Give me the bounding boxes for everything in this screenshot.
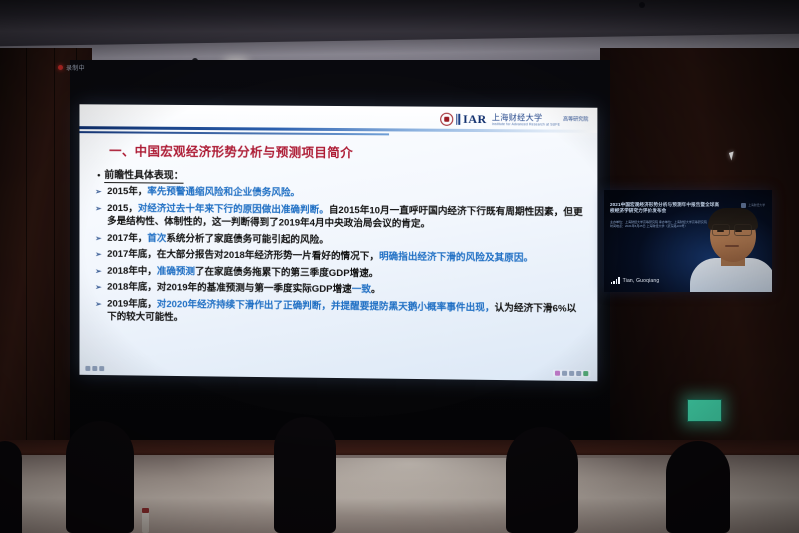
audience-head xyxy=(66,421,134,533)
speaker-video-feed xyxy=(690,212,772,292)
bullet-text-tail: 了在家庭债务拖累下的第三季度GDP增速。 xyxy=(195,266,378,279)
conference-room-photo: 录制中 IAR 上海财经大学 Institute for Advanced Re… xyxy=(0,0,799,533)
exit-sign xyxy=(687,399,722,422)
bullet-text-highlight: 准确预测 xyxy=(157,266,195,277)
bullet-text-plain: 2017年底，在大部分报告对2018年经济形势一片看好的情况下， xyxy=(107,249,379,263)
pen-tool-icon[interactable] xyxy=(555,371,560,376)
slide-bullet-item: 2015，对经济过去十年来下行的原因做出准确判断。自2015年10月一直呼吁国内… xyxy=(95,201,585,232)
lead-text: 前瞻性具体表现： xyxy=(104,170,183,184)
slide-header: IAR 上海财经大学 Institute for Advanced Resear… xyxy=(79,104,597,138)
slide-title: 一、中国宏观经济形势分析与预测项目简介 xyxy=(95,140,585,163)
footer-icon xyxy=(85,366,90,371)
bullet-text-highlight: 首次 xyxy=(147,233,166,244)
audience-head xyxy=(0,441,22,533)
slide-footer-left xyxy=(85,366,104,371)
presenter-toolbar[interactable] xyxy=(553,370,590,377)
slide-bullet-item: 2015年，率先预警通缩风险和企业债务风险。 xyxy=(95,185,585,203)
record-dot-icon xyxy=(58,65,63,70)
slide-menu-icon[interactable] xyxy=(576,371,581,376)
bullet-text-highlight: 对2020年经济持续下滑作出了正确判断，并提醒要提防黑天鹅小概率事件出现， xyxy=(157,299,495,314)
slide-bullet-list: 2015年，率先预警通缩风险和企业债务风险。2015，对经济过去十年来下行的原因… xyxy=(95,185,585,329)
bullet-text-plain: 2018年底，对2019年的基准预测与第一季度实际GDP增速 xyxy=(107,282,352,296)
recording-label: 录制中 xyxy=(66,63,85,72)
slide-bullet-item: 2017年，首次系统分析了家庭债务可能引起的风险。 xyxy=(95,231,585,249)
bullet-text-plain: 2018年中， xyxy=(107,265,157,276)
lead-bullet-icon: • xyxy=(97,170,100,180)
bullet-text-tail: 系统分析了家庭债务可能引起的风险。 xyxy=(166,233,328,246)
slide-bullet-item: 2019年底，对2020年经济持续下滑作出了正确判断，并提醒要提防黑天鹅小概率事… xyxy=(95,297,585,329)
bullet-text-highlight: 一致 xyxy=(352,284,371,295)
event-logo-text: 上海财经大学 xyxy=(748,204,765,207)
bullet-text-plain: 2015， xyxy=(107,202,138,213)
ceiling-sensor xyxy=(639,2,645,8)
signal-bars-icon xyxy=(611,277,620,284)
bullet-text-highlight: 对经济过去十年来下行的原因做出准确判断。 xyxy=(138,203,329,216)
water-bottle-cap xyxy=(142,508,149,513)
participant-name-badge: Tian, Guoqiang xyxy=(611,277,659,284)
logo-cn-sub: 高等研究院 xyxy=(563,117,588,124)
presentation-slide: IAR 上海财经大学 Institute for Advanced Resear… xyxy=(79,104,597,381)
bullet-text-tail: 。 xyxy=(371,284,381,295)
audience-head xyxy=(274,417,336,533)
seal-icon xyxy=(440,113,453,126)
sufe-iar-logo: IAR 上海财经大学 Institute for Advanced Resear… xyxy=(440,113,588,127)
bullet-text-highlight: 率先预警通缩风险和企业债务风险。 xyxy=(147,186,300,198)
footer-icon xyxy=(99,366,104,371)
audience-head xyxy=(506,427,578,533)
bullet-text-plain: 2019年底， xyxy=(107,298,157,309)
recording-indicator: 录制中 xyxy=(58,63,85,72)
slide-bullet-item: 2017年底，在大部分报告对2018年经济形势一片看好的情况下，明确指出经济下滑… xyxy=(95,248,585,266)
bullet-text-plain: 2015年， xyxy=(107,186,147,197)
slide-bullet-item: 2018年中，准确预测了在家庭债务拖累下的第三季度GDP增速。 xyxy=(95,264,585,283)
slide-lead-line: •前瞻性具体表现： xyxy=(97,166,585,185)
bullet-text-plain: 2017年， xyxy=(107,232,147,243)
floor-light-reflection xyxy=(170,458,650,518)
slide-body: 一、中国宏观经济形势分析与预测项目简介 •前瞻性具体表现： 2015年，率先预警… xyxy=(79,134,597,329)
bullet-text-highlight: 明确指出经济下滑的风险及其原因。 xyxy=(379,251,533,264)
video-conference-tile[interactable]: 2021中国宏观经济形势分析与预测年中报告暨全球高校经济学研究力评价发布会 主办… xyxy=(604,190,772,292)
slide-bullet-item: 2018年底，对2019年的基准预测与第一季度实际GDP增速一致。 xyxy=(95,280,585,299)
slide-prev-icon[interactable] xyxy=(562,371,567,376)
divider-bars-icon xyxy=(456,114,460,125)
slide-next-icon[interactable] xyxy=(569,371,574,376)
laser-pointer-icon[interactable] xyxy=(583,371,588,376)
logo-acronym: IAR xyxy=(463,114,487,125)
audience-head xyxy=(666,441,730,533)
footer-icon xyxy=(92,366,97,371)
event-logo: 上海财经大学 xyxy=(741,203,765,208)
participant-name: Tian, Guoqiang xyxy=(623,278,660,284)
logo-en-name: Institute for Advanced Research at SUFE xyxy=(492,122,560,126)
